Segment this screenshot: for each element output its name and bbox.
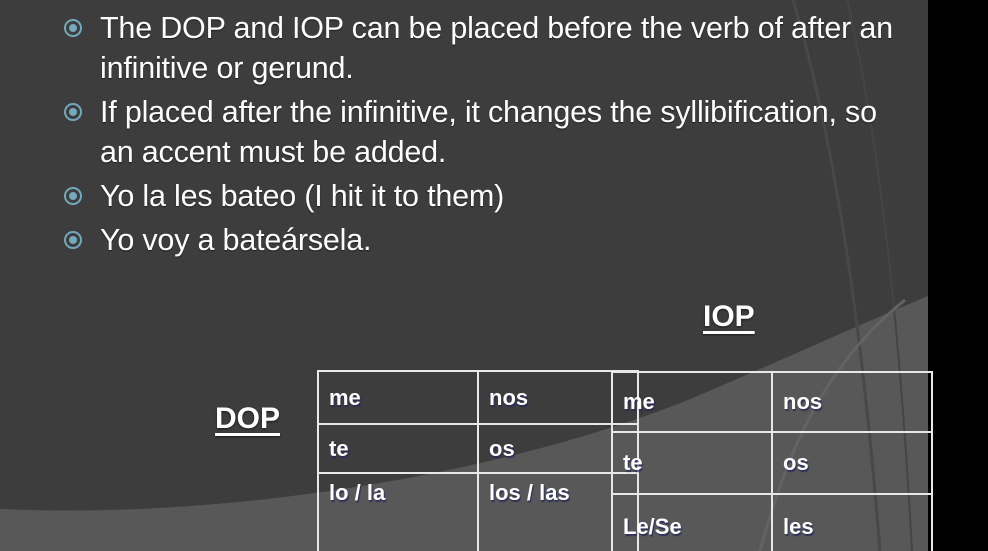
slide-canvas: The DOP and IOP can be placed before the…: [0, 0, 988, 551]
iop-cell-0-1: nos: [772, 372, 932, 432]
table-row: lo / la los / las: [318, 473, 638, 551]
bullet-item-3-text: Yo la les bateo (I hit it to them): [100, 179, 504, 213]
bullet-item-2: If placed after the infinitive, it chang…: [0, 92, 900, 172]
bullet-item-4-text: Yo voy a bateársela.: [100, 223, 371, 257]
bullet-item-3: Yo la les bateo (I hit it to them): [0, 176, 900, 216]
iop-cell-2-0: Le/Se: [612, 494, 772, 551]
bullet-item-2-text: If placed after the infinitive, it chang…: [100, 95, 877, 169]
dop-table-label: DOP: [215, 402, 280, 436]
dop-pronoun-table: me nos te os lo / la los / las: [317, 370, 639, 551]
dop-cell-1-0: te: [318, 424, 478, 473]
bullet-item-1-text: The DOP and IOP can be placed before the…: [100, 11, 893, 85]
table-row: me nos: [612, 372, 932, 432]
dop-cell-2-0: lo / la: [318, 473, 478, 551]
bullet-item-4: Yo voy a bateársela.: [0, 220, 900, 260]
table-row: me nos: [318, 371, 638, 424]
iop-cell-2-1: les: [772, 494, 932, 551]
table-row: te os: [612, 432, 932, 494]
bullet-ring-icon: [64, 103, 82, 121]
iop-pronoun-table: me nos te os Le/Se les: [611, 371, 933, 551]
iop-table-label: IOP: [703, 300, 755, 334]
bullet-item-1: The DOP and IOP can be placed before the…: [0, 8, 900, 88]
right-black-band: [928, 0, 988, 551]
bullet-ring-icon: [64, 187, 82, 205]
bullet-list: The DOP and IOP can be placed before the…: [0, 8, 900, 264]
table-row: te os: [318, 424, 638, 473]
iop-cell-1-1: os: [772, 432, 932, 494]
bullet-ring-icon: [64, 231, 82, 249]
bullet-ring-icon: [64, 19, 82, 37]
iop-cell-1-0: te: [612, 432, 772, 494]
iop-cell-0-0: me: [612, 372, 772, 432]
table-row: Le/Se les: [612, 494, 932, 551]
dop-cell-0-0: me: [318, 371, 478, 424]
